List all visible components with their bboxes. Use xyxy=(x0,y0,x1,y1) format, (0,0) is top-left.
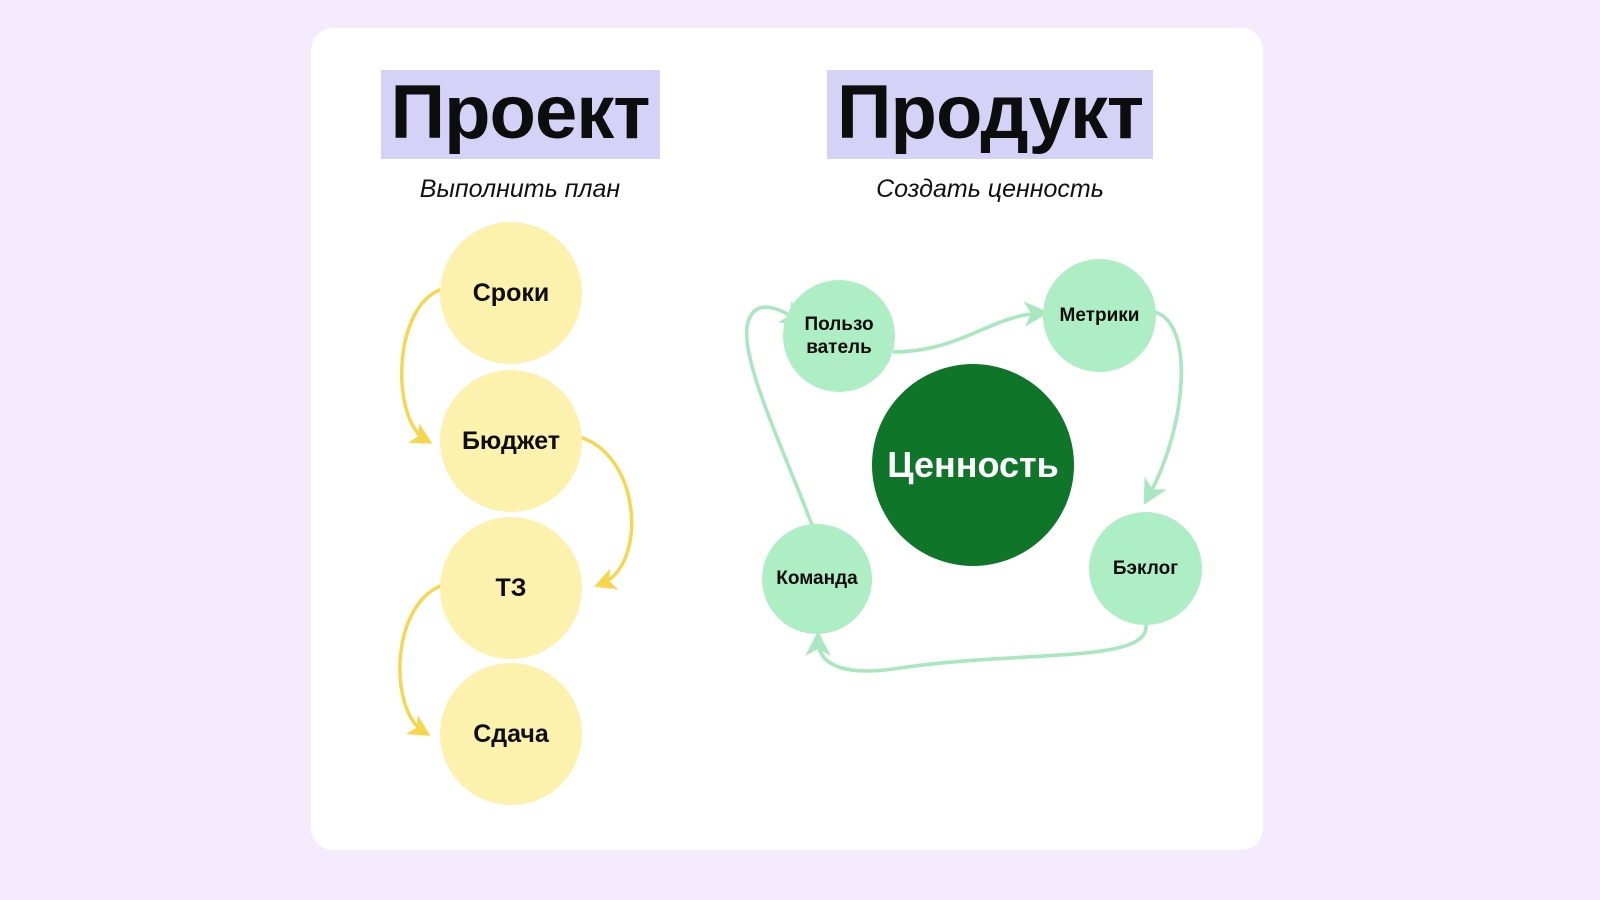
node-sroki-label: Сроки xyxy=(473,278,549,309)
node-budget[interactable]: Бюджет xyxy=(440,370,582,512)
project-title-wrap: Проект xyxy=(381,70,660,159)
node-team[interactable]: Команда xyxy=(762,524,872,634)
product-column-header: Продукт Создать ценность xyxy=(790,70,1190,204)
node-user-label: Пользо ватель xyxy=(804,313,873,359)
node-sroki[interactable]: Сроки xyxy=(440,222,582,364)
node-team-label: Команда xyxy=(776,567,857,590)
project-subtitle: Выполнить план xyxy=(330,175,710,204)
node-tz[interactable]: ТЗ xyxy=(440,517,582,659)
node-metrics-label: Метрики xyxy=(1060,304,1140,327)
node-metrics[interactable]: Метрики xyxy=(1043,259,1156,372)
node-user[interactable]: Пользо ватель xyxy=(783,280,895,392)
node-value-label: Ценность xyxy=(887,443,1059,487)
node-sdacha-label: Сдача xyxy=(473,719,549,750)
node-backlog-label: Бэклог xyxy=(1113,557,1178,580)
product-subtitle: Создать ценность xyxy=(790,175,1190,204)
node-sdacha[interactable]: Сдача xyxy=(440,663,582,805)
node-budget-label: Бюджет xyxy=(462,426,560,457)
node-tz-label: ТЗ xyxy=(496,573,527,604)
product-title-wrap: Продукт xyxy=(827,70,1153,159)
diagram-canvas: Проект Выполнить план Сроки Бюджет ТЗ Сд… xyxy=(0,0,1600,900)
node-backlog[interactable]: Бэклог xyxy=(1089,512,1202,625)
node-value[interactable]: Ценность xyxy=(872,364,1074,566)
product-title: Продукт xyxy=(827,70,1153,159)
project-title: Проект xyxy=(381,70,660,159)
project-column-header: Проект Выполнить план xyxy=(330,70,710,204)
